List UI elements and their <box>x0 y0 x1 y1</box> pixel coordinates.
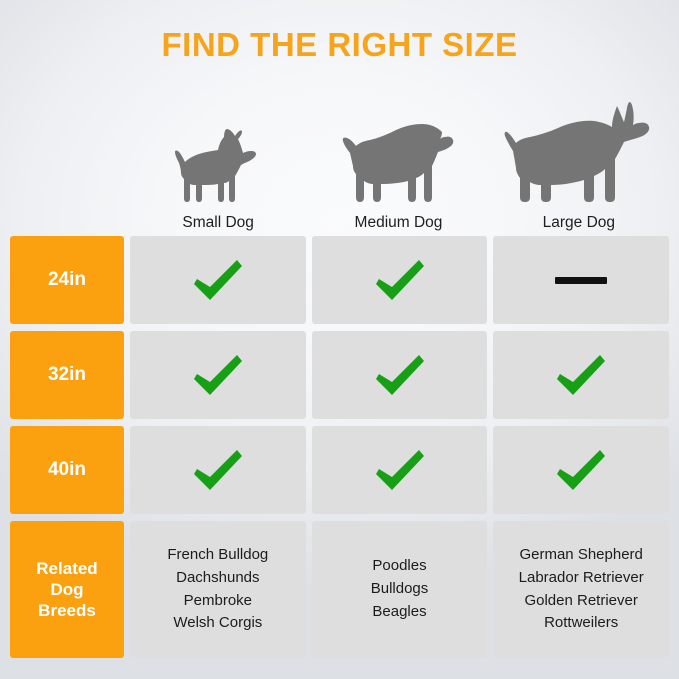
cell-breeds-small: French Bulldog Dachshunds Pembroke Welsh… <box>130 521 306 658</box>
breed-list: German Shepherd Labrador Retriever Golde… <box>519 544 644 635</box>
size-matrix: 24in 32in <box>10 236 669 660</box>
row-header-24in: 24in <box>10 236 124 324</box>
cell-24in-large <box>493 236 669 324</box>
checkmark-icon <box>193 259 243 301</box>
dog-column-label: Medium Dog <box>355 214 443 232</box>
table-row: 24in <box>10 236 669 324</box>
cell-breeds-large: German Shepherd Labrador Retriever Golde… <box>493 521 669 658</box>
row-header-label: 24in <box>48 268 86 292</box>
breed-list: Poodles Bulldogs Beagles <box>371 555 429 623</box>
checkmark-icon <box>375 449 425 491</box>
size-chart-infographic: FIND THE RIGHT SIZE Small Dog Mediu <box>0 0 679 679</box>
row-header-32in: 32in <box>10 331 124 419</box>
table-row: 40in <box>10 426 669 514</box>
row-header-related-breeds: Related Dog Breeds <box>10 521 124 658</box>
row-header-label: 40in <box>48 458 86 482</box>
large-dog-icon <box>504 101 654 206</box>
breed-item: Welsh Corgis <box>167 612 268 635</box>
breed-item: Rottweilers <box>519 612 644 635</box>
row-header-label-line: Dog <box>50 580 83 599</box>
cell-32in-medium <box>312 331 488 419</box>
breed-item: Pembroke <box>167 590 268 613</box>
dog-column-small: Small Dog <box>128 92 308 232</box>
breed-item: Dachshunds <box>167 567 268 590</box>
cell-32in-small <box>130 331 306 419</box>
dog-size-header: Small Dog Medium Dog Large Dog <box>10 92 669 232</box>
cell-32in-large <box>493 331 669 419</box>
breed-item: Golden Retriever <box>519 590 644 613</box>
table-row: 32in <box>10 331 669 419</box>
title-bar: FIND THE RIGHT SIZE <box>0 26 679 64</box>
breed-item: Labrador Retriever <box>519 567 644 590</box>
checkmark-icon <box>556 354 606 396</box>
row-header-label: 32in <box>48 363 86 387</box>
checkmark-icon <box>193 354 243 396</box>
small-dog-icon <box>172 101 264 206</box>
cell-40in-medium <box>312 426 488 514</box>
dog-column-large: Large Dog <box>489 92 669 232</box>
medium-dog-icon <box>340 101 456 206</box>
table-row-breeds: Related Dog Breeds French Bulldog Dachsh… <box>10 521 669 658</box>
row-header-label: Related Dog Breeds <box>36 558 97 622</box>
dog-column-label: Small Dog <box>182 214 254 232</box>
dog-column-medium: Medium Dog <box>308 92 488 232</box>
breed-item: German Shepherd <box>519 544 644 567</box>
checkmark-icon <box>556 449 606 491</box>
cell-breeds-medium: Poodles Bulldogs Beagles <box>312 521 488 658</box>
cell-40in-small <box>130 426 306 514</box>
breed-item: Poodles <box>371 555 429 578</box>
breed-item: Bulldogs <box>371 578 429 601</box>
breed-item: Beagles <box>371 601 429 624</box>
checkmark-icon <box>193 449 243 491</box>
cell-24in-small <box>130 236 306 324</box>
breed-item: French Bulldog <box>167 544 268 567</box>
checkmark-icon <box>375 259 425 301</box>
page-title: FIND THE RIGHT SIZE <box>0 26 679 64</box>
breed-list: French Bulldog Dachshunds Pembroke Welsh… <box>167 544 268 635</box>
header-spacer <box>10 92 128 232</box>
cell-24in-medium <box>312 236 488 324</box>
row-header-40in: 40in <box>10 426 124 514</box>
dog-columns: Small Dog Medium Dog Large Dog <box>128 92 669 232</box>
cell-40in-large <box>493 426 669 514</box>
row-header-label-line: Breeds <box>38 601 96 620</box>
checkmark-icon <box>375 354 425 396</box>
dog-column-label: Large Dog <box>543 214 615 232</box>
dash-icon <box>555 277 607 284</box>
row-header-label-line: Related <box>36 559 97 578</box>
